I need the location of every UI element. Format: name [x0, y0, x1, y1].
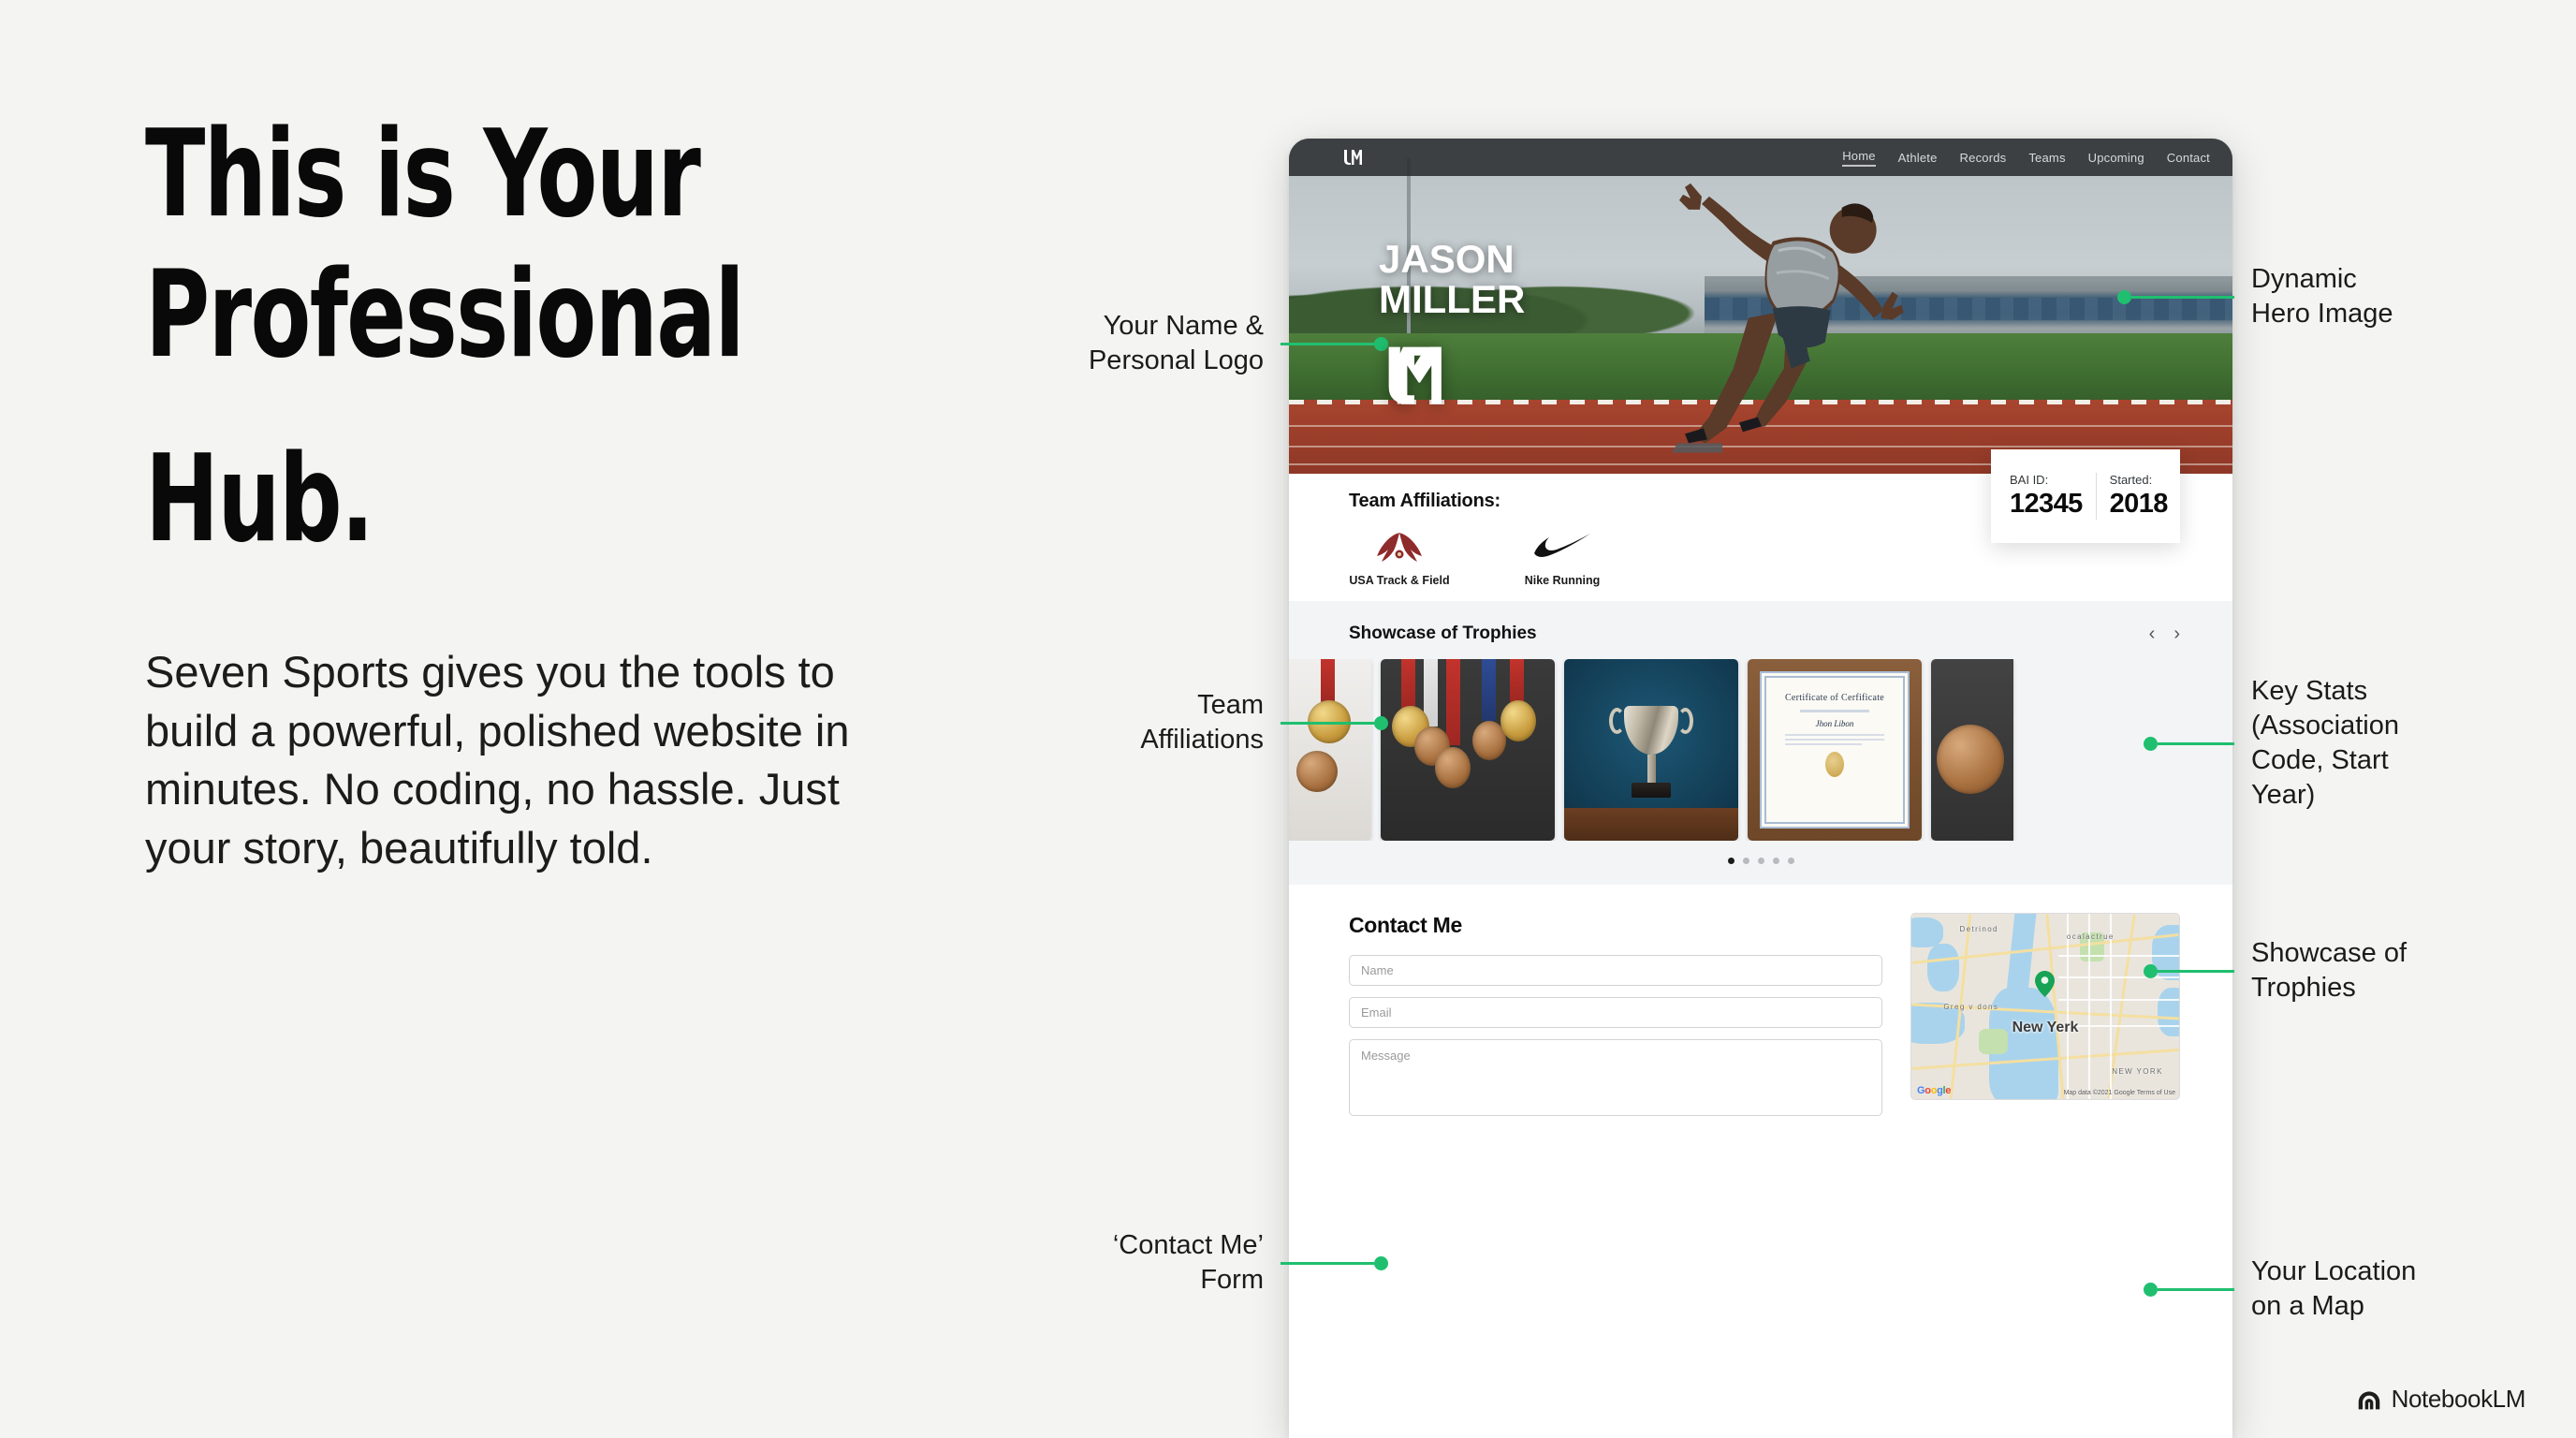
nav-links: Home Athlete Records Teams Upcoming Cont…	[1842, 149, 2210, 167]
nav-link-athlete[interactable]: Athlete	[1898, 151, 1938, 165]
carousel-dot[interactable]	[1773, 858, 1779, 864]
map-district-label: Detrinod	[1959, 925, 1998, 933]
nike-swoosh-icon	[1512, 525, 1613, 566]
nav-logo-icon[interactable]	[1341, 148, 1362, 167]
annotation-dot	[2144, 1283, 2158, 1297]
stat-bai-id: BAI ID: 12345	[1997, 473, 2096, 520]
chevron-left-icon[interactable]: ‹	[2149, 624, 2156, 643]
annotation-connector	[2158, 742, 2234, 745]
contact-form: Contact Me Name Email Message	[1349, 913, 1882, 1127]
trophies-carousel[interactable]: Certificate of Cerfificate Jhon Libon	[1289, 659, 2232, 841]
affiliation-name: Nike Running	[1512, 574, 1613, 587]
hero-last-name: MILLER	[1379, 280, 1525, 320]
hero-first-name: JASON	[1379, 240, 1525, 280]
carousel-dots[interactable]	[1289, 858, 2232, 864]
nav-link-records[interactable]: Records	[1960, 151, 2007, 165]
affiliation-name: USA Track & Field	[1349, 574, 1450, 587]
carousel-dot[interactable]	[1728, 858, 1734, 864]
annotation-connector	[2131, 296, 2234, 299]
contact-title: Contact Me	[1349, 913, 1882, 938]
notebooklm-icon	[2356, 1387, 2382, 1412]
annotation-connector	[2158, 1288, 2234, 1291]
email-field[interactable]: Email	[1349, 997, 1882, 1028]
annotation-hero-image: Dynamic Hero Image	[2117, 262, 2393, 331]
page-title: This is Your Professional Hub.	[145, 112, 783, 563]
hero-title-block: JASON MILLER	[1379, 240, 1525, 410]
certificate-title: Certificate of Cerfificate	[1776, 693, 1894, 703]
map-district-label: Greg v dons	[1943, 1003, 1998, 1011]
carousel-dot[interactable]	[1743, 858, 1749, 864]
map-city-label: New Yerk	[2012, 1020, 2079, 1036]
hero-section: Home Athlete Records Teams Upcoming Cont…	[1289, 139, 2232, 474]
nav-link-teams[interactable]: Teams	[2028, 151, 2065, 165]
annotation-connector	[1281, 722, 1374, 725]
google-watermark: Google	[1917, 1085, 1951, 1096]
stat-label: Started:	[2110, 473, 2168, 487]
stat-label: BAI ID:	[2010, 473, 2083, 487]
carousel-controls: ‹ ›	[2149, 624, 2180, 643]
headline-line-3: Hub.	[145, 437, 783, 563]
annotation-connector	[1281, 343, 1374, 345]
stat-value: 2018	[2110, 489, 2168, 520]
certificate-art: Certificate of Cerfificate Jhon Libon	[1760, 671, 1910, 829]
annotation-dot	[2117, 290, 2131, 304]
hero-body-text: Seven Sports gives you the tools to buil…	[145, 643, 894, 877]
annotation-connector	[1281, 1262, 1374, 1265]
key-stats-card: BAI ID: 12345 Started: 2018	[1991, 449, 2180, 543]
message-field[interactable]: Message	[1349, 1039, 1882, 1116]
affiliation-nike[interactable]: Nike Running	[1512, 525, 1613, 587]
trophies-title: Showcase of Trophies	[1349, 624, 1537, 644]
hero-monogram-icon	[1379, 341, 1450, 410]
annotation-dot	[1374, 716, 1388, 730]
headline-line-1: This is Your	[145, 112, 783, 238]
annotation-team-affiliations: Team Affiliations	[1046, 688, 1388, 757]
name-field[interactable]: Name	[1349, 955, 1882, 986]
trophy-card[interactable]	[1381, 659, 1555, 841]
site-navbar[interactable]: Home Athlete Records Teams Upcoming Cont…	[1289, 139, 2232, 176]
map-district-label: ocalactrue	[2067, 932, 2115, 941]
certificate-name: Jhon Libon	[1776, 719, 1894, 728]
annotation-connector	[2158, 970, 2234, 973]
annotation-dot	[2144, 964, 2158, 978]
trophies-header: Showcase of Trophies ‹ ›	[1289, 624, 2232, 644]
map-pin-icon	[2035, 971, 2055, 996]
map-attribution: Map data ©2021 Google Terms of Use	[2064, 1090, 2175, 1096]
annotation-dot	[1374, 1256, 1388, 1270]
chevron-right-icon[interactable]: ›	[2173, 624, 2180, 643]
affiliations-section: Team Affiliations: USA Track & Field	[1289, 474, 2232, 601]
carousel-dot[interactable]	[1758, 858, 1764, 864]
carousel-dot[interactable]	[1788, 858, 1794, 864]
hero-copy-block: This is Your Professional Hub. Seven Spo…	[145, 112, 922, 877]
location-map[interactable]: Detrinod ocalactrue Greg v dons New Yerk…	[1910, 913, 2180, 1100]
trophy-card[interactable]	[1931, 659, 2013, 841]
slide-root: This is Your Professional Hub. Seven Spo…	[0, 0, 2576, 1438]
notebooklm-brand: NotebookLM	[2356, 1385, 2525, 1414]
nav-link-home[interactable]: Home	[1842, 149, 1875, 167]
stat-started: Started: 2018	[2096, 473, 2181, 520]
trophy-card[interactable]: Certificate of Cerfificate Jhon Libon	[1748, 659, 1922, 841]
annotation-contact-form: ‘Contact Me’ Form	[1025, 1228, 1388, 1298]
map-state-label: NEW YORK	[2112, 1067, 2163, 1076]
annotation-showcase-trophies: Showcase of Trophies	[2144, 936, 2407, 1005]
trophies-section: Showcase of Trophies ‹ ›	[1289, 601, 2232, 885]
stat-value: 12345	[2010, 489, 2083, 520]
notebooklm-label: NotebookLM	[2392, 1385, 2525, 1414]
annotation-name-logo: Your Name & Personal Logo	[1020, 309, 1388, 378]
annotation-dot	[2144, 737, 2158, 751]
trophy-cup-icon	[1624, 706, 1678, 798]
nav-link-contact[interactable]: Contact	[2167, 151, 2210, 165]
hero-runner-image	[1601, 152, 2016, 460]
annotation-key-stats: Key Stats (Association Code, Start Year)	[2144, 674, 2399, 813]
contact-section: Contact Me Name Email Message	[1289, 885, 2232, 1127]
headline-line-2: Professional	[145, 253, 783, 378]
trophy-card[interactable]	[1564, 659, 1738, 841]
annotation-location-map: Your Location on a Map	[2144, 1255, 2416, 1324]
affiliation-usatf[interactable]: USA Track & Field	[1349, 525, 1450, 587]
usatf-wings-icon	[1349, 525, 1450, 566]
nav-link-upcoming[interactable]: Upcoming	[2088, 151, 2144, 165]
website-mockup: Home Athlete Records Teams Upcoming Cont…	[1289, 139, 2232, 1438]
